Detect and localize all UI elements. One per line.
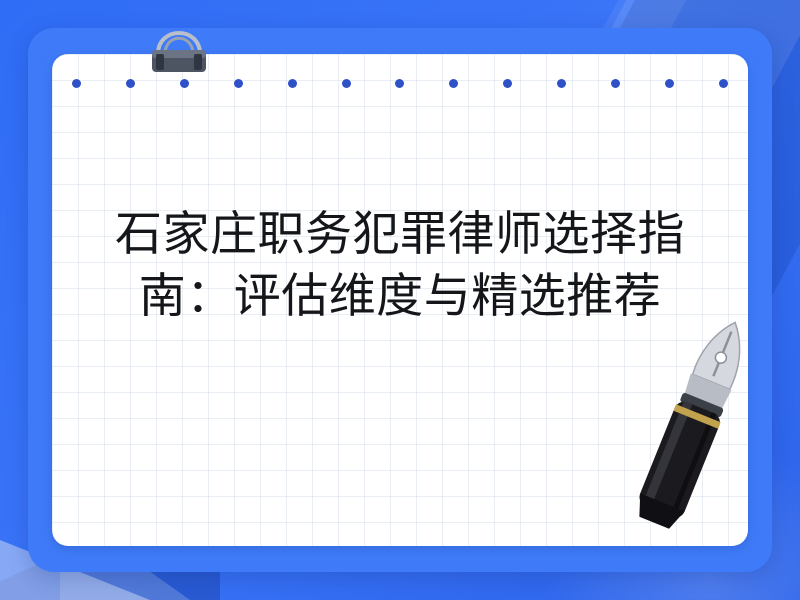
dot (288, 79, 297, 88)
binder-clip-icon (140, 8, 218, 80)
dot (557, 79, 566, 88)
fountain-pen-icon (598, 310, 798, 540)
dot (719, 79, 728, 88)
dot (342, 79, 351, 88)
poster-canvas: 石家庄职务犯罪律师选择指南：评估维度与精选推荐 (0, 0, 800, 600)
dot (503, 79, 512, 88)
dot (234, 79, 243, 88)
dot (611, 79, 620, 88)
dot (126, 79, 135, 88)
dot (665, 79, 674, 88)
dot (72, 79, 81, 88)
dot (449, 79, 458, 88)
dot (395, 79, 404, 88)
